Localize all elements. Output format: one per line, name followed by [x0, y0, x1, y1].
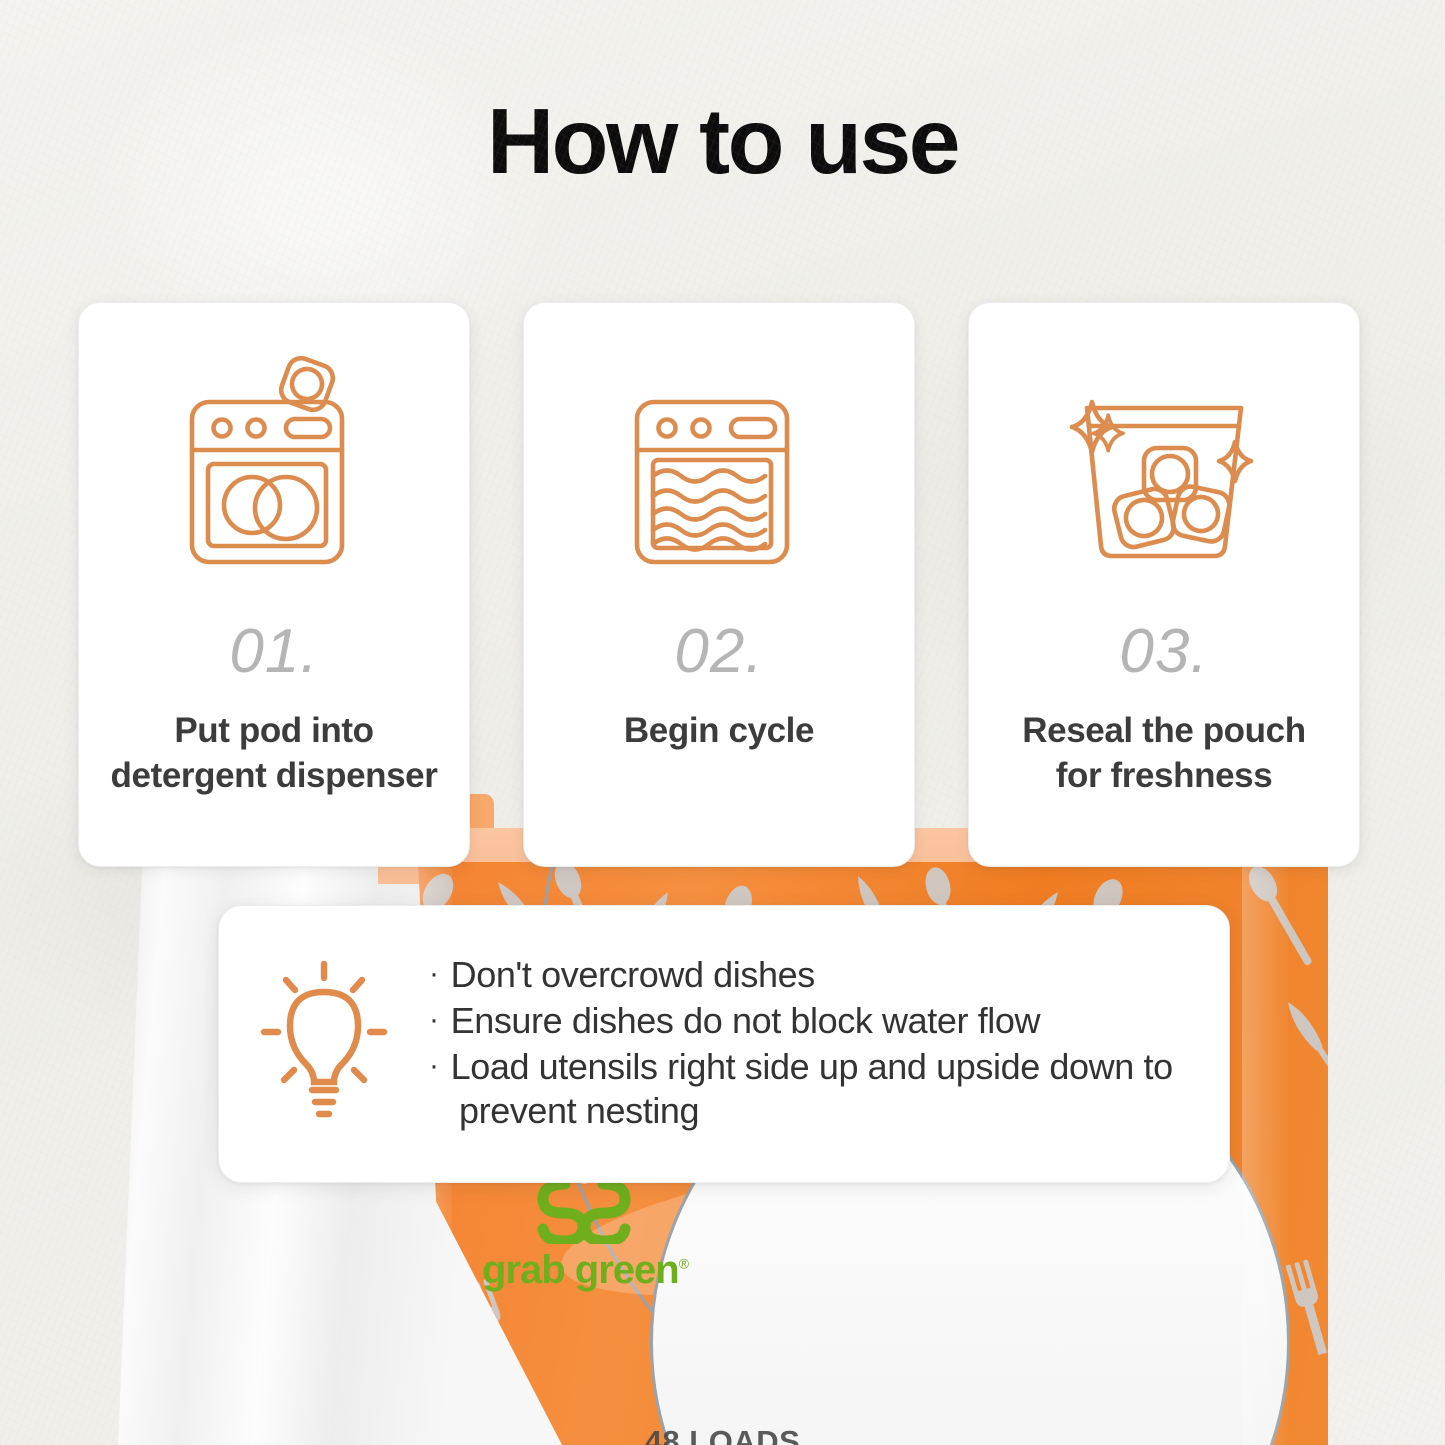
step-card-1[interactable]: 01. Put pod intodetergent dispenser [78, 302, 470, 867]
step-3-icon-wrap [969, 335, 1359, 615]
tip-item-2: ·Ensure dishes do not block water flow [429, 999, 1209, 1043]
tips-list: ·Don't overcrowd dishes ·Ensure dishes d… [429, 953, 1229, 1135]
resealable-pouch-icon [1059, 350, 1269, 600]
step-2-icon-wrap [524, 335, 914, 615]
brand-name: grab green® [482, 1248, 688, 1293]
lightbulb-icon [258, 960, 390, 1128]
step-2-label: Begin cycle [534, 709, 904, 754]
tip-text-1: Don't overcrowd dishes [451, 954, 815, 995]
step-1-icon-wrap [79, 335, 469, 615]
step-2-number: 02. [524, 621, 914, 683]
tips-card[interactable]: ·Don't overcrowd dishes ·Ensure dishes d… [218, 905, 1230, 1183]
pack-size-label: 48 LOADS [0, 1424, 1445, 1445]
step-1-label: Put pod intodetergent dispenser [89, 709, 459, 799]
tip-item-1: ·Don't overcrowd dishes [429, 953, 1209, 997]
step-1-number: 01. [79, 621, 469, 683]
dishwasher-running-icon [619, 350, 819, 600]
step-card-2[interactable]: 02. Begin cycle [523, 302, 915, 867]
tip-item-3: ·Load utensils right side up and upside … [429, 1045, 1209, 1133]
tip-bullet-3: · [429, 1049, 451, 1082]
step-3-number: 03. [969, 621, 1359, 683]
tip-bullet-2: · [429, 1003, 451, 1036]
tip-bullet-1: · [429, 957, 451, 990]
tip-text-3: Load utensils right side up and upside d… [451, 1046, 1173, 1131]
step-3-label: Reseal the pouchfor freshness [979, 709, 1349, 799]
infographic-canvas: How to use [0, 0, 1445, 1445]
pouch-seam-right [1242, 862, 1288, 1445]
step-card-3[interactable]: 03. Reseal the pouchfor freshness [968, 302, 1360, 867]
page-title: How to use [0, 95, 1445, 188]
brand-logo: grab green® [420, 1162, 750, 1332]
registered-mark: ® [679, 1256, 688, 1272]
brand-name-text: grab green [482, 1248, 679, 1292]
dishwasher-with-pod-icon [174, 350, 374, 600]
tip-text-2: Ensure dishes do not block water flow [451, 1000, 1041, 1041]
tips-icon-wrap [219, 960, 429, 1128]
